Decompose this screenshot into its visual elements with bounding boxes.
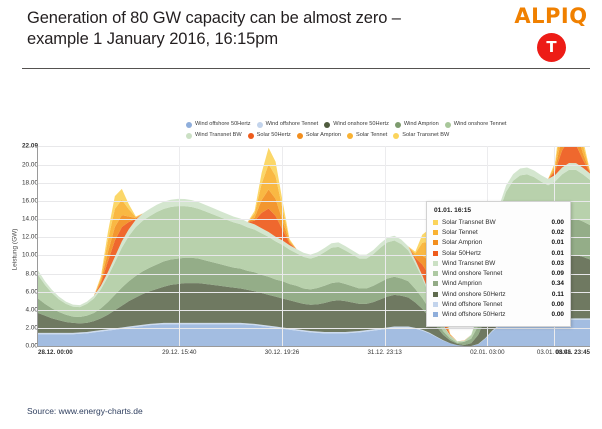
legend-swatch-icon bbox=[297, 133, 303, 139]
tooltip-series-value: 0.00 bbox=[552, 219, 564, 226]
tooltip-series-value: 0.11 bbox=[552, 291, 564, 298]
tooltip-row: Wind offshore 50Hertz0.00 bbox=[433, 310, 564, 320]
vertical-gridline bbox=[282, 146, 283, 346]
tooltip-series-value: 0.01 bbox=[552, 250, 564, 257]
tooltip-swatch-icon bbox=[433, 251, 438, 256]
tooltip-series-value: 0.00 bbox=[552, 311, 564, 318]
alpiq-logo: ALPIQ T bbox=[508, 4, 594, 66]
alpiq-wordmark: ALPIQ bbox=[508, 4, 594, 28]
legend-swatch-icon bbox=[186, 133, 192, 139]
alpiq-badge-letter: T bbox=[537, 33, 566, 62]
legend-label: Solar 50Hertz bbox=[257, 130, 291, 141]
gridline bbox=[38, 146, 590, 147]
tooltip-series-name: Wind Transnet BW bbox=[442, 260, 552, 267]
x-tick-label: 31.12. 23:13 bbox=[367, 349, 401, 356]
legend-swatch-icon bbox=[186, 122, 192, 128]
y-tick-label: 2.00 bbox=[4, 324, 38, 331]
x-axis-line bbox=[37, 346, 590, 347]
legend-swatch-icon bbox=[257, 122, 263, 128]
tooltip-series-name: Solar Transnet BW bbox=[442, 219, 552, 226]
x-tick-label: 02.01. 03:00 bbox=[470, 349, 504, 356]
legend-item[interactable]: Solar Amprion bbox=[297, 130, 341, 141]
tooltip-series-name: Solar Tennet bbox=[442, 229, 552, 236]
tooltip-row: Solar Amprion0.01 bbox=[433, 238, 564, 248]
gridline bbox=[38, 183, 590, 184]
tooltip-row: Wind onshore 50Hertz0.11 bbox=[433, 289, 564, 299]
x-tick-label: 03.01. 23:45 bbox=[555, 349, 590, 356]
tooltip-row: Wind Transnet BW0.03 bbox=[433, 258, 564, 268]
chart-container: Wind offshore 50HertzWind offshore Tenne… bbox=[8, 110, 596, 385]
legend-label: Wind onshore Tennet bbox=[454, 119, 507, 130]
tooltip-row: Solar Transnet BW0.00 bbox=[433, 217, 564, 227]
y-axis-ticks: 0.002.004.006.008.0010.0012.0014.0016.00… bbox=[0, 146, 38, 346]
tooltip-swatch-icon bbox=[433, 292, 438, 297]
x-tick-label: 28.12. 00:00 bbox=[38, 349, 73, 356]
tooltip-title: 01.01. 16:15 bbox=[433, 207, 564, 214]
plot-wrapper: Leistung (GW) 0.002.004.006.008.0010.001… bbox=[8, 146, 596, 361]
legend-item[interactable]: Wind offshore Tennet bbox=[257, 119, 319, 130]
legend-swatch-icon bbox=[248, 133, 254, 139]
legend-item[interactable]: Wind Transnet BW bbox=[186, 130, 242, 141]
x-tick-label: 29.12. 15:40 bbox=[162, 349, 196, 356]
legend-row-bottom: Wind Transnet BWSolar 50HertzSolar Ampri… bbox=[186, 130, 590, 141]
tooltip-swatch-icon bbox=[433, 271, 438, 276]
y-tick-label: 8.00 bbox=[4, 270, 38, 277]
gridline bbox=[38, 328, 590, 329]
chart-legend: Wind offshore 50HertzWind offshore Tenne… bbox=[186, 119, 590, 141]
page-title: Generation of 80 GW capacity can be almo… bbox=[27, 8, 467, 50]
tooltip-series-value: 0.01 bbox=[552, 239, 564, 246]
tooltip-row: Wind Amprion0.34 bbox=[433, 279, 564, 289]
gridline bbox=[38, 165, 590, 166]
header-divider bbox=[22, 68, 590, 69]
legend-swatch-icon bbox=[445, 122, 451, 128]
legend-item[interactable]: Wind onshore Tennet bbox=[445, 119, 507, 130]
tooltip-row: Wind onshore Tennet0.09 bbox=[433, 268, 564, 278]
legend-item[interactable]: Solar 50Hertz bbox=[248, 130, 291, 141]
y-axis-line bbox=[37, 146, 38, 347]
tooltip-row: Solar Tennet0.02 bbox=[433, 227, 564, 237]
tooltip-series-value: 0.09 bbox=[552, 270, 564, 277]
chart-tooltip: 01.01. 16:15 Solar Transnet BW0.00Solar … bbox=[426, 201, 571, 327]
legend-label: Wind onshore 50Hertz bbox=[333, 119, 389, 130]
legend-swatch-icon bbox=[347, 133, 353, 139]
tooltip-swatch-icon bbox=[433, 230, 438, 235]
y-tick-label: 16.00 bbox=[4, 198, 38, 205]
tooltip-series-name: Solar 50Hertz bbox=[442, 250, 552, 257]
tooltip-series-name: Wind offshore Tennet bbox=[442, 301, 552, 308]
legend-label: Wind offshore Tennet bbox=[266, 119, 319, 130]
tooltip-series-value: 0.00 bbox=[552, 301, 564, 308]
legend-item[interactable]: Wind offshore 50Hertz bbox=[186, 119, 251, 130]
legend-swatch-icon bbox=[324, 122, 330, 128]
tooltip-swatch-icon bbox=[433, 220, 438, 225]
tooltip-series-name: Solar Amprion bbox=[442, 239, 552, 246]
legend-label: Solar Transnet BW bbox=[402, 130, 449, 141]
tooltip-swatch-icon bbox=[433, 261, 438, 266]
tooltip-swatch-icon bbox=[433, 281, 438, 286]
legend-label: Solar Amprion bbox=[306, 130, 341, 141]
legend-item[interactable]: Wind Amprion bbox=[395, 119, 439, 130]
tooltip-rows: Solar Transnet BW0.00Solar Tennet0.02Sol… bbox=[433, 217, 564, 320]
y-tick-label: 0.00 bbox=[4, 343, 38, 350]
slide-header: Generation of 80 GW capacity can be almo… bbox=[0, 0, 602, 70]
source-note: Source: www.energy-charts.de bbox=[27, 406, 143, 416]
legend-item[interactable]: Solar Transnet BW bbox=[393, 130, 449, 141]
tooltip-series-value: 0.03 bbox=[552, 260, 564, 267]
tooltip-swatch-icon bbox=[433, 312, 438, 317]
tooltip-series-value: 0.02 bbox=[552, 229, 564, 236]
x-axis-ticks: 28.12. 00:0029.12. 15:4030.12. 19:2631.1… bbox=[38, 349, 590, 363]
legend-item[interactable]: Solar Tennet bbox=[347, 130, 387, 141]
tooltip-row: Wind offshore Tennet0.00 bbox=[433, 299, 564, 309]
y-tick-label: 12.00 bbox=[4, 234, 38, 241]
legend-row-top: Wind offshore 50HertzWind offshore Tenne… bbox=[186, 119, 590, 130]
alpiq-badge-icon: T bbox=[537, 33, 566, 62]
y-tick-label: 18.00 bbox=[4, 180, 38, 187]
tooltip-series-name: Wind onshore 50Hertz bbox=[442, 291, 552, 298]
y-tick-label: 6.00 bbox=[4, 288, 38, 295]
legend-swatch-icon bbox=[393, 133, 399, 139]
tooltip-swatch-icon bbox=[433, 302, 438, 307]
tooltip-row: Solar 50Hertz0.01 bbox=[433, 248, 564, 258]
y-tick-label: 14.00 bbox=[4, 216, 38, 223]
y-tick-label: 20.00 bbox=[4, 161, 38, 168]
tooltip-swatch-icon bbox=[433, 240, 438, 245]
tooltip-series-name: Wind onshore Tennet bbox=[442, 270, 552, 277]
tooltip-series-name: Wind Amprion bbox=[442, 280, 552, 287]
legend-swatch-icon bbox=[395, 122, 401, 128]
vertical-gridline bbox=[179, 146, 180, 346]
x-tick-label: 30.12. 19:26 bbox=[265, 349, 299, 356]
legend-item[interactable]: Wind onshore 50Hertz bbox=[324, 119, 389, 130]
legend-label: Wind Transnet BW bbox=[195, 130, 242, 141]
legend-label: Solar Tennet bbox=[356, 130, 387, 141]
vertical-gridline bbox=[385, 146, 386, 346]
y-tick-label: 22.09 bbox=[4, 143, 38, 150]
tooltip-series-name: Wind offshore 50Hertz bbox=[442, 311, 552, 318]
y-tick-label: 10.00 bbox=[4, 252, 38, 259]
tooltip-series-value: 0.34 bbox=[552, 280, 564, 287]
y-tick-label: 4.00 bbox=[4, 306, 38, 313]
legend-label: Wind Amprion bbox=[404, 119, 439, 130]
legend-label: Wind offshore 50Hertz bbox=[195, 119, 251, 130]
